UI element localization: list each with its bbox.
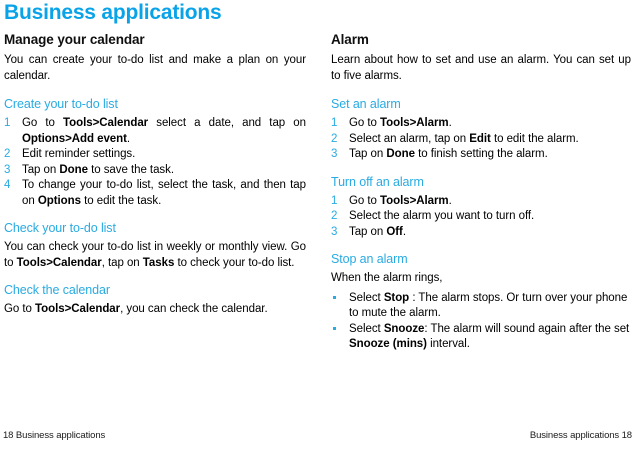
paragraph-check-the-calendar: Go to Tools>Calendar, you can check the … [4,302,306,318]
list-item: 2 Edit reminder settings. [4,147,306,163]
subsection-title-check-your-to-do-list: Check your to-do list [4,221,306,236]
step-text: Tap on Done to finish setting the alarm. [349,148,548,160]
list-item: Select Stop : The alarm stops. Or turn o… [331,291,631,322]
step-text: Edit reminder settings. [22,148,135,160]
document-page: Business applications Manage your calend… [0,0,635,450]
bullet-icon [333,327,336,330]
steps-turn-off-an-alarm: 1 Go to Tools>Alarm. 2 Select the alarm … [331,194,631,241]
footer-left: 18 Business applications [3,430,105,441]
list-item: 4 To change your to-do list, select the … [4,178,306,209]
step-number: 1 [331,116,343,132]
subsection-title-check-the-calendar: Check the calendar [4,283,306,298]
bullet-text: Select Snooze: The alarm will sound agai… [349,323,629,351]
bullet-icon [333,296,336,299]
step-number: 3 [4,163,16,179]
paragraph-manage-calendar-intro: You can create your to-do list and make … [4,53,306,84]
step-text: Go to Tools>Alarm. [349,117,452,129]
bullets-stop-an-alarm: Select Stop : The alarm stops. Or turn o… [331,291,631,353]
page-title: Business applications [4,0,222,26]
paragraph-check-your-to-do-list: You can check your to-do list in weekly … [4,240,306,271]
paragraph-alarm-intro: Learn about how to set and use an alarm.… [331,53,631,84]
bullet-text: Select Stop : The alarm stops. Or turn o… [349,292,627,320]
two-column-body: Manage your calendar You can create your… [0,32,635,353]
subsection-title-stop-an-alarm: Stop an alarm [331,252,631,267]
list-item: Select Snooze: The alarm will sound agai… [331,322,631,353]
step-number: 2 [331,132,343,148]
subsection-title-create-your-to-do-list: Create your to-do list [4,97,306,112]
right-column: Alarm Learn about how to set and use an … [329,32,631,353]
subsection-title-set-an-alarm: Set an alarm [331,97,631,112]
step-number: 1 [331,194,343,210]
step-text: Select the alarm you want to turn off. [349,210,534,222]
steps-create-your-to-do-list: 1 Go to Tools>Calendar select a date, an… [4,116,306,209]
step-number: 2 [4,147,16,163]
list-item: 3 Tap on Done to finish setting the alar… [331,147,631,163]
step-number: 3 [331,147,343,163]
step-number: 4 [4,178,16,194]
list-item: 2 Select an alarm, tap on Edit to edit t… [331,132,631,148]
step-text: Select an alarm, tap on Edit to edit the… [349,133,579,145]
list-item: 2 Select the alarm you want to turn off. [331,209,631,225]
section-title-alarm: Alarm [331,32,631,48]
step-text: Tap on Off. [349,226,406,238]
section-title-manage-your-calendar: Manage your calendar [4,32,306,48]
list-item: 1 Go to Tools>Alarm. [331,194,631,210]
page-footer: 18 Business applications Business applic… [0,430,635,444]
list-item: 3 Tap on Done to save the task. [4,163,306,179]
step-text: Go to Tools>Alarm. [349,195,452,207]
steps-set-an-alarm: 1 Go to Tools>Alarm. 2 Select an alarm, … [331,116,631,163]
step-text: Tap on Done to save the task. [22,164,174,176]
step-text: To change your to-do list, select the ta… [22,179,306,207]
step-number: 3 [331,225,343,241]
step-number: 1 [4,116,16,132]
list-item: 1 Go to Tools>Calendar select a date, an… [4,116,306,147]
left-column: Manage your calendar You can create your… [0,32,306,353]
subsection-title-turn-off-an-alarm: Turn off an alarm [331,175,631,190]
step-text: Go to Tools>Calendar select a date, and … [22,117,306,145]
list-item: 3 Tap on Off. [331,225,631,241]
paragraph-stop-an-alarm-lead-in: When the alarm rings, [331,271,631,287]
list-item: 1 Go to Tools>Alarm. [331,116,631,132]
footer-right: Business applications 18 [530,430,632,441]
step-number: 2 [331,209,343,225]
